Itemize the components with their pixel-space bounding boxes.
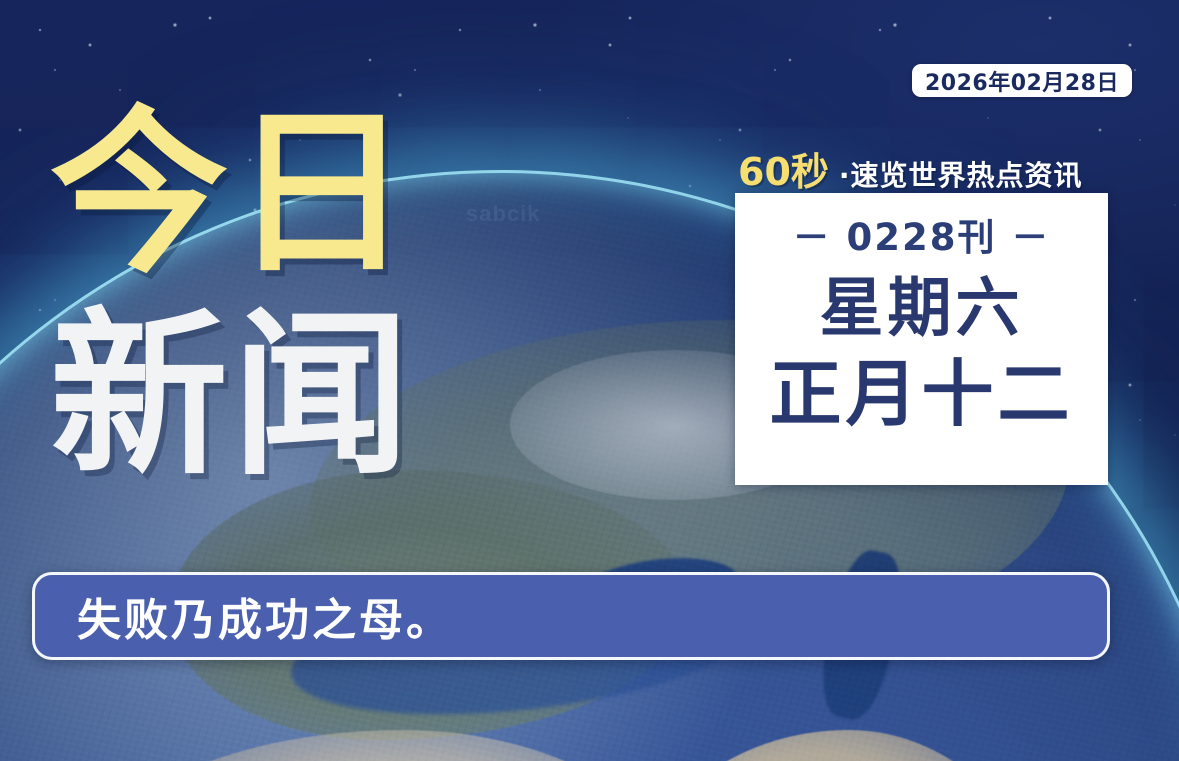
weekday-label: 星期六	[820, 273, 1024, 345]
issue-number: － 0228刊 －	[793, 207, 1051, 261]
page-title-line-1: 今日	[50, 96, 470, 292]
tagline-duration: 60秒	[738, 141, 829, 196]
date-badge-label: 2026年02月28日	[925, 65, 1119, 97]
date-info-card: － 0228刊 － 星期六 正月十二	[735, 193, 1108, 485]
poster-title: 今日 新闻	[50, 96, 470, 494]
quote-bar: 失败乃成功之母。	[32, 572, 1110, 660]
lunar-date-label: 正月十二	[769, 353, 1073, 435]
page-title-line-2: 新闻	[50, 298, 470, 494]
tagline: 60秒 ·速览世界热点资讯	[738, 141, 1083, 196]
tagline-description: ·速览世界热点资讯	[839, 154, 1083, 194]
background-watermark: sabcik	[466, 201, 541, 227]
quote-text: 失败乃成功之母。	[77, 584, 453, 648]
news-poster: sabcik 今日 新闻 2026年02月28日 60秒 ·速览世界热点资讯 －…	[0, 0, 1179, 761]
date-badge: 2026年02月28日	[912, 64, 1132, 97]
